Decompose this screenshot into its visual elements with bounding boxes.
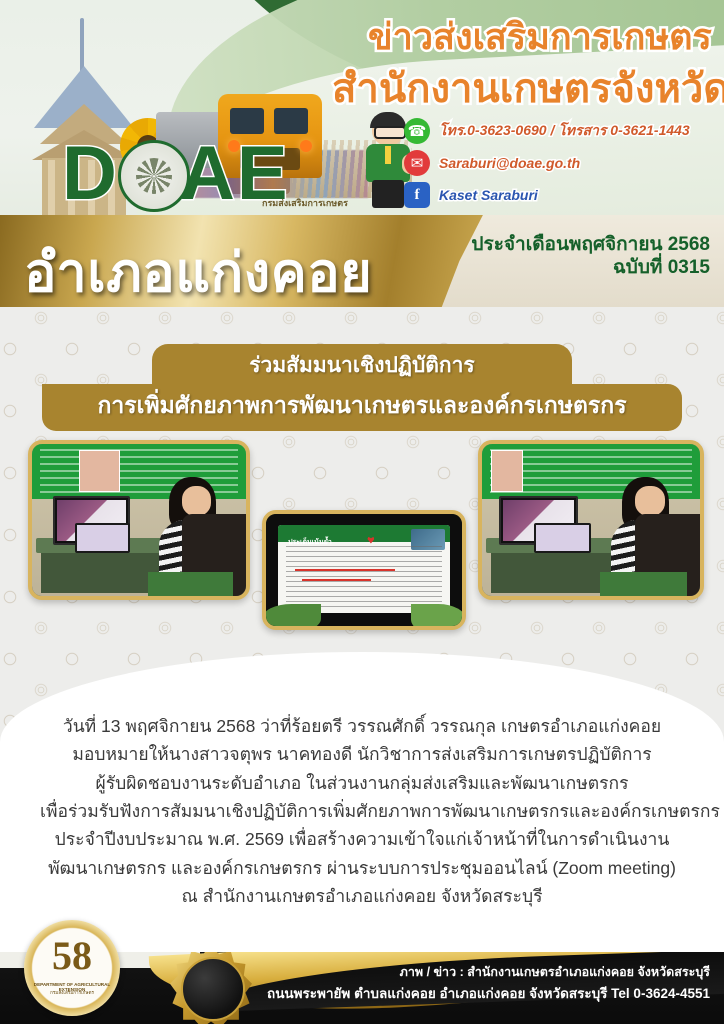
decorative-leaf xyxy=(411,604,466,630)
district-banner: อำเภอแก่งคอย ประจำเดือนพฤศจิกายน 2568 ฉบ… xyxy=(0,215,724,307)
board-poster xyxy=(491,450,524,492)
content-title-line1: ร่วมสัมมนาเชิงปฏิบัติการ xyxy=(152,344,572,384)
body-line: มอบหมายให้นางสาวจตุพร นาคทองดี นักวิชากา… xyxy=(40,740,684,768)
tablet-on-desk xyxy=(534,523,591,553)
badge-number: 58 xyxy=(24,936,120,976)
photo-officer-at-desk-left[interactable] xyxy=(28,440,250,600)
desk-body xyxy=(41,553,165,593)
badge-caption-th: กรมส่งเสริมการเกษตร xyxy=(24,990,120,997)
slide-body-text-lines xyxy=(286,546,441,609)
body-line: ณ สำนักงานเกษตรอำเภอแก่งคอย จังหวัดสระบุ… xyxy=(40,882,684,910)
tablet-device: ประเด็นเน้นย้ำ xyxy=(266,514,462,626)
content-title: ร่วมสัมมนาเชิงปฏิบัติการ การเพิ่มศักยภาพ… xyxy=(42,344,682,431)
contact-row-phone: ☎ โทร.0-3623-0690 / โทรสาร 0-3621-1443 xyxy=(404,118,724,144)
chair-base xyxy=(600,572,687,596)
office-scene xyxy=(32,444,246,596)
slide-highlight-line xyxy=(302,579,371,581)
desk-body xyxy=(491,553,617,593)
decorative-leaf xyxy=(262,604,321,630)
news-body-text: วันที่ 13 พฤศจิกายน 2568 ว่าที่ร้อยตรี ว… xyxy=(40,712,684,910)
contact-facebook-text[interactable]: Kaset Saraburi xyxy=(439,187,538,203)
anniversary-badge-58: 58 DEPARTMENT OF AGRICULTURAL EXTENSION … xyxy=(24,920,120,1016)
issue-number: ฉบับที่ 0315 xyxy=(471,256,710,279)
body-line: ประจำปีงบประมาณ พ.ศ. 2569 เพื่อสร้างความ… xyxy=(40,825,684,853)
chair-base xyxy=(148,572,234,596)
mascot-tie xyxy=(385,146,391,164)
mail-icon: ✉ xyxy=(404,150,430,176)
body-line: เพื่อร่วมรับฟังการสัมมนาเชิงปฏิบัติการเพ… xyxy=(40,797,684,825)
footer-medallion xyxy=(170,952,252,1024)
mascot-glasses xyxy=(374,126,406,139)
district-name: อำเภอแก่งคอย xyxy=(24,229,372,307)
contact-phone-text: โทร.0-3623-0690 / โทรสาร 0-3621-1443 xyxy=(439,120,690,142)
tablet-on-desk xyxy=(75,523,131,553)
issue-info: ประจำเดือนพฤศจิกายน 2568 ฉบับที่ 0315 xyxy=(471,233,710,279)
photo-tablet-presentation[interactable]: ประเด็นเน้นย้ำ xyxy=(262,510,466,630)
content-title-line2: การเพิ่มศักยภาพการพัฒนาเกษตรและองค์กรเกษ… xyxy=(42,384,682,431)
body-line: ผู้รับผิดชอบงานระดับอำเภอ ในส่วนงานกลุ่ม… xyxy=(40,769,684,797)
contact-row-email[interactable]: ✉ Saraburi@doae.go.th xyxy=(404,150,724,176)
officer-face xyxy=(635,486,665,515)
phone-icon: ☎ xyxy=(404,118,430,144)
tablet-screen: ประเด็นเน้นย้ำ xyxy=(278,525,450,612)
office-scene xyxy=(482,444,700,596)
body-line: วันที่ 13 พฤศจิกายน 2568 ว่าที่ร้อยตรี ว… xyxy=(40,712,684,740)
doae-logo-subtitle: กรมส่งเสริมการเกษตร xyxy=(262,196,348,210)
footer-address: ถนนพระพายัพ ตำบลแก่งคอย อำเภอแก่งคอย จัง… xyxy=(267,982,710,1004)
contact-block: ☎ โทร.0-3623-0690 / โทรสาร 0-3621-1443 ✉… xyxy=(404,118,724,214)
medallion-center xyxy=(181,957,245,1021)
garuda-emblem-icon xyxy=(118,140,190,212)
poster-header: DOAE กรมส่งเสริมการเกษตร ข่าวส่งเสริมการ… xyxy=(0,0,724,222)
issue-month: ประจำเดือนพฤศจิกายน 2568 xyxy=(471,233,710,256)
doae-logo: DOAE กรมส่งเสริมการเกษตร xyxy=(62,132,362,216)
facebook-icon: f xyxy=(404,182,430,208)
photo-collage: ประเด็นเน้นย้ำ xyxy=(0,432,724,632)
mascot-trousers xyxy=(372,180,404,208)
contact-email-text[interactable]: Saraburi@doae.go.th xyxy=(439,155,580,171)
slide-highlight-line xyxy=(295,569,395,571)
header-title-line2: สำนักงานเกษตรจังหวัดสระบุรี xyxy=(332,56,724,120)
board-poster xyxy=(79,450,120,492)
photo-officer-at-desk-right[interactable] xyxy=(478,440,704,600)
contact-row-facebook[interactable]: f Kaset Saraburi xyxy=(404,182,724,208)
body-line: พัฒนาเกษตรกร และองค์กรเกษตรกร ผ่านระบบกา… xyxy=(40,854,684,882)
footer-credit: ภาพ / ข่าว : สำนักงานเกษตรอำเภอแก่งคอย จ… xyxy=(400,962,710,982)
pagoda-column xyxy=(48,160,55,216)
poster-root: DOAE กรมส่งเสริมการเกษตร ข่าวส่งเสริมการ… xyxy=(0,0,724,1024)
officer-face xyxy=(182,486,211,515)
